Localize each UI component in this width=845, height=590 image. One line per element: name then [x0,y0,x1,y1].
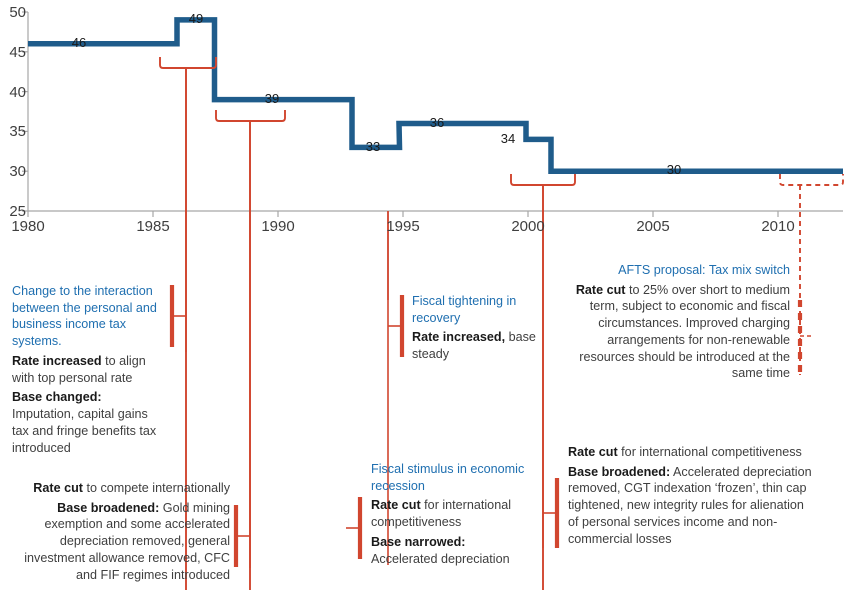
annotation-afts: AFTS proposal: Tax mix switch Rate cut t… [558,262,790,382]
data-value-label: 39 [255,92,289,105]
annotation-1986-line-2: Base changed: Imputation, capital gains … [12,389,162,456]
y-tick-label: 40 [0,85,26,100]
annotation-2000-line-1: Rate cut for international competitivene… [568,444,813,461]
annotation-1993-heading: Fiscal stimulus in economic recession [371,461,526,494]
annotation-1988: Rate cut to compete internationally Base… [0,480,230,583]
annotation-1993-line-2: Base narrowed: Accelerated depreciation [371,534,526,567]
annotation-1995-line-1: Rate increased, base steady [412,329,542,362]
y-axis-ticks [22,12,28,211]
x-tick-label: 1980 [0,219,58,234]
data-value-label: 30 [657,163,691,176]
annotation-1993-line-2-bold: Base narrowed: [371,535,465,549]
annotation-afts-heading: AFTS proposal: Tax mix switch [558,262,790,279]
annotation-2000-line-2: Base broadened: Accelerated depreciation… [568,464,813,548]
annotation-1988-line-1-bold: Rate cut [33,481,83,495]
annotation-1995-line-1-bold: Rate increased, [412,330,505,344]
annotation-1986-line-1-bold: Rate increased [12,354,102,368]
x-tick-label: 1990 [248,219,308,234]
annotation-1988-line-2: Base broadened: Gold mining exemption an… [0,500,230,584]
annotation-2000: Rate cut for international competitivene… [568,444,813,547]
annotation-1993: Fiscal stimulus in economic recession Ra… [371,461,526,567]
annotation-1986: Change to the interaction between the pe… [12,283,162,456]
series-company-tax-rate [28,20,843,171]
annotation-2000-line-1-rest: for international competitiveness [618,445,802,459]
y-tick-label: 45 [0,45,26,60]
annotation-1986-heading: Change to the interaction between the pe… [12,283,162,350]
data-value-label: 46 [62,36,96,49]
y-tick-label: 50 [0,5,26,20]
annotation-1993-line-1-bold: Rate cut [371,498,421,512]
x-axis-ticks [28,211,778,217]
x-tick-label: 2010 [748,219,808,234]
annotation-2000-line-2-bold: Base broadened: [568,465,670,479]
y-tick-label: 35 [0,124,26,139]
data-value-label: 33 [356,140,390,153]
annotation-1995-heading: Fiscal tightening in recovery [412,293,542,326]
annotation-1993-line-1: Rate cut for international competitivene… [371,497,526,530]
annotation-afts-line-1-rest: to 25% over short to medium term, subjec… [579,283,790,381]
annotation-1988-line-2-bold: Base broadened: [57,501,159,515]
x-tick-label: 2000 [498,219,558,234]
annotation-1995: Fiscal tightening in recovery Rate incre… [412,293,542,363]
data-value-label: 34 [491,132,525,145]
chart-canvas: 50 45 40 35 30 25 1980 1985 1990 1995 20… [0,0,845,590]
annotation-1986-line-2-bold: Base changed: [12,390,102,404]
annotation-1993-line-2-rest: Accelerated depreciation [371,552,510,566]
y-tick-label: 25 [0,204,26,219]
annotation-1986-line-2-rest: Imputation, capital gains tax and fringe… [12,407,156,454]
data-value-label: 36 [420,116,454,129]
annotation-1988-line-1-rest: to compete internationally [83,481,230,495]
data-value-label: 49 [179,12,213,25]
x-tick-label: 2005 [623,219,683,234]
x-tick-label: 1995 [373,219,433,234]
annotation-afts-line-1: Rate cut to 25% over short to medium ter… [558,282,790,382]
annotation-afts-line-1-bold: Rate cut [576,283,626,297]
annotation-1988-line-1: Rate cut to compete internationally [0,480,230,497]
annotation-1986-line-1: Rate increased to align with top persona… [12,353,162,386]
x-tick-label: 1985 [123,219,183,234]
annotation-2000-line-1-bold: Rate cut [568,445,618,459]
y-tick-label: 30 [0,164,26,179]
